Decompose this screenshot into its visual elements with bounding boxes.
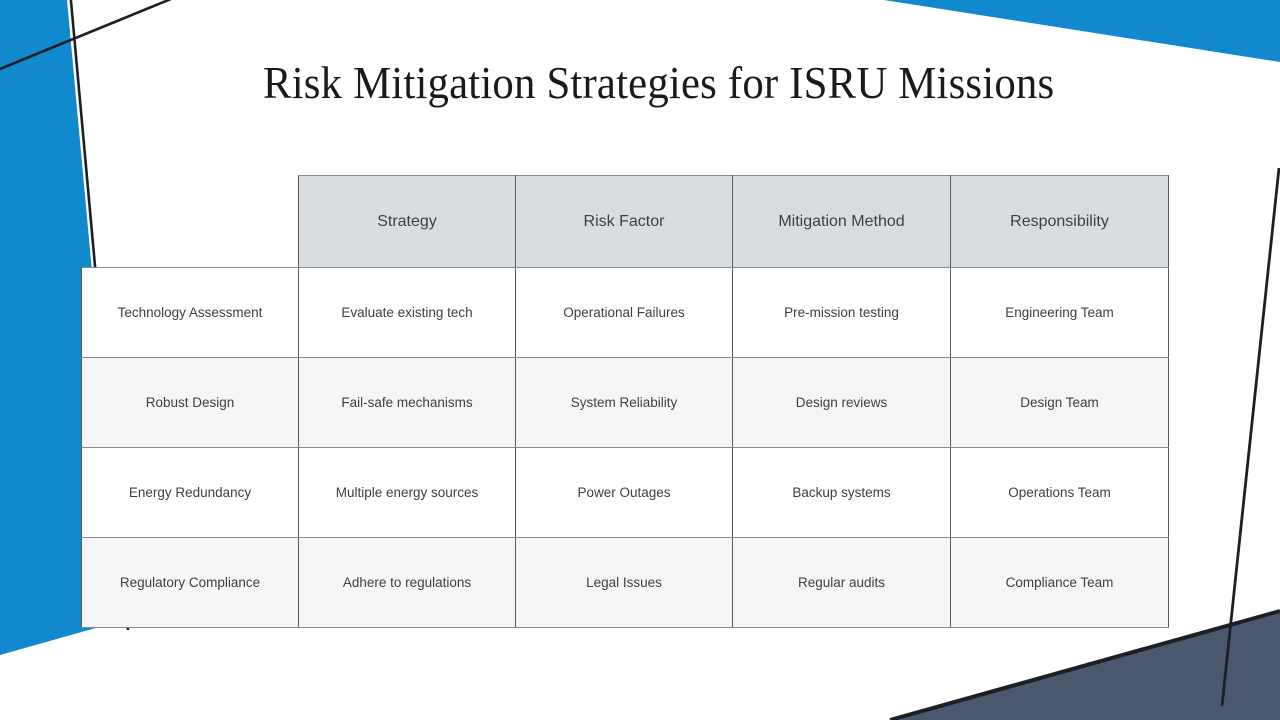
blue-wedge-top-right: [884, 0, 1280, 62]
column-header-mitigation-method: Mitigation Method: [733, 176, 951, 268]
row-label: Energy Redundancy: [82, 448, 299, 538]
cell-responsibility: Operations Team: [951, 448, 1169, 538]
table-header: Strategy Risk Factor Mitigation Method R…: [82, 176, 1169, 268]
page-title: Risk Mitigation Strategies for ISRU Miss…: [263, 57, 1147, 110]
cell-responsibility: Engineering Team: [951, 268, 1169, 358]
cell-strategy: Evaluate existing tech: [299, 268, 516, 358]
row-label: Robust Design: [82, 358, 299, 448]
table-body: Technology Assessment Evaluate existing …: [82, 268, 1169, 628]
column-header-strategy: Strategy: [299, 176, 516, 268]
table-row: Technology Assessment Evaluate existing …: [82, 268, 1169, 358]
diagonal-line-right: [1222, 168, 1279, 706]
table-row: Energy Redundancy Multiple energy source…: [82, 448, 1169, 538]
risk-mitigation-table: Strategy Risk Factor Mitigation Method R…: [81, 175, 1169, 628]
cell-risk-factor: Operational Failures: [516, 268, 733, 358]
cell-mitigation-method: Regular audits: [733, 538, 951, 628]
cell-mitigation-method: Design reviews: [733, 358, 951, 448]
cell-strategy: Fail-safe mechanisms: [299, 358, 516, 448]
row-label: Regulatory Compliance: [82, 538, 299, 628]
cell-strategy: Adhere to regulations: [299, 538, 516, 628]
cell-risk-factor: Legal Issues: [516, 538, 733, 628]
table-row: Regulatory Compliance Adhere to regulati…: [82, 538, 1169, 628]
cell-strategy: Multiple energy sources: [299, 448, 516, 538]
slide-canvas: Risk Mitigation Strategies for ISRU Miss…: [0, 0, 1280, 720]
cell-mitigation-method: Backup systems: [733, 448, 951, 538]
row-label: Technology Assessment: [82, 268, 299, 358]
cell-responsibility: Design Team: [951, 358, 1169, 448]
table-row: Robust Design Fail-safe mechanisms Syste…: [82, 358, 1169, 448]
column-header-risk-factor: Risk Factor: [516, 176, 733, 268]
diagonal-line-top-left: [0, 0, 188, 73]
cell-risk-factor: System Reliability: [516, 358, 733, 448]
risk-table-container: Strategy Risk Factor Mitigation Method R…: [81, 175, 1168, 632]
column-header-responsibility: Responsibility: [951, 176, 1169, 268]
cell-responsibility: Compliance Team: [951, 538, 1169, 628]
cell-mitigation-method: Pre-mission testing: [733, 268, 951, 358]
table-corner-cell: [82, 176, 299, 268]
cell-risk-factor: Power Outages: [516, 448, 733, 538]
table-header-row: Strategy Risk Factor Mitigation Method R…: [82, 176, 1169, 268]
